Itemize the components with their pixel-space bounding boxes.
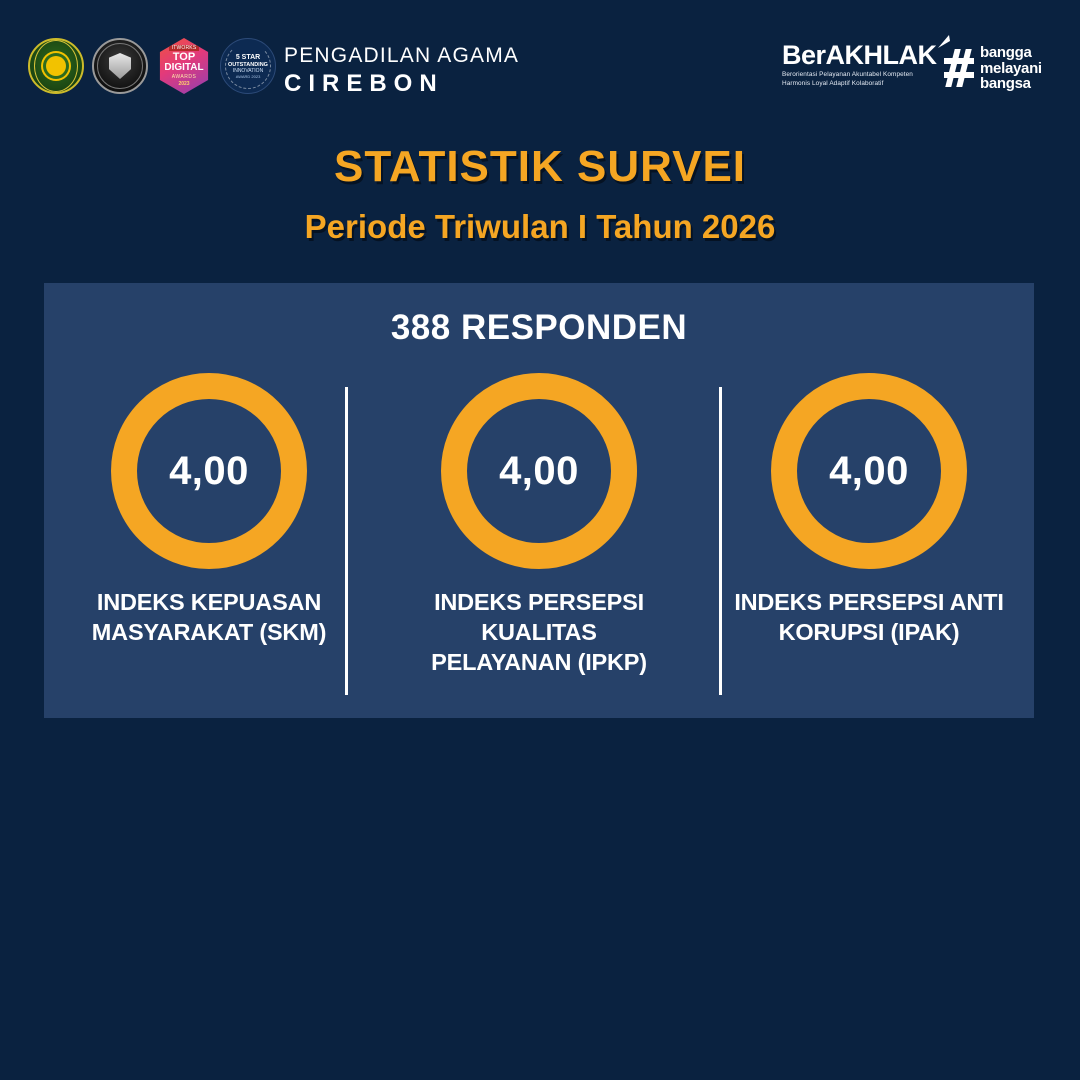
wreath-ring	[225, 43, 271, 89]
hashtag-icon	[944, 49, 974, 87]
metric-divider	[345, 387, 348, 695]
berakhlak-tagline-2: Harmonis Loyal Adaptif Kolaboratif	[782, 80, 937, 88]
badge-line-3: AWARDS	[172, 74, 197, 80]
court-name-line-2: CIREBON	[284, 70, 519, 97]
accreditation-badges: ITWORKS TOP DIGITAL AWARDS 2023 5 STAR O…	[28, 38, 276, 94]
metric-label: INDEKS KEPUASAN MASYARAKAT (SKM)	[92, 587, 326, 647]
seal-ring	[34, 40, 78, 92]
berakhlak-wordmark: BerAKHLAK	[782, 40, 937, 70]
metric-skm: 4,00 INDEKS KEPUASAN MASYARAKAT (SKM)	[44, 373, 374, 703]
metric-divider	[719, 387, 722, 695]
metrics-panel: 388 RESPONDEN 4,00 INDEKS KEPUASAN MASYA…	[44, 283, 1034, 718]
bangga-melayani-bangsa-logo: bangga melayani bangsa	[944, 45, 1042, 92]
badge-line-2: DIGITAL	[164, 63, 203, 73]
metric-value: 4,00	[499, 449, 579, 494]
metric-value: 4,00	[829, 449, 909, 494]
respondent-count: 388 RESPONDEN	[44, 283, 1034, 348]
metric-value: 4,00	[169, 449, 249, 494]
metric-ipak: 4,00 INDEKS PERSEPSI ANTI KORUPSI (IPAK)	[704, 373, 1034, 703]
badge-year: 2023	[178, 81, 189, 87]
donut-gauge-ipak: 4,00	[771, 373, 967, 569]
logo-5-star-innovation-icon: 5 STAR OUTSTANDING INNOVATION AWARD 2023	[220, 38, 276, 94]
court-name: PENGADILAN AGAMA CIREBON	[284, 44, 519, 97]
title-main: STATISTIK SURVEI	[0, 142, 1080, 192]
bangga-wordmark: bangga melayani bangsa	[980, 45, 1042, 92]
donut-gauge-ipkp: 4,00	[441, 373, 637, 569]
donut-gauge-skm: 4,00	[111, 373, 307, 569]
logo-wbk-wbbm-icon	[92, 38, 148, 94]
bangga-line-1: bangga	[980, 45, 1042, 61]
quarter-timeline: Triwulan I SKM 4,00 IPKP 4,00 IPAK 4,00 …	[0, 745, 1080, 1080]
bangga-line-3: bangsa	[980, 76, 1042, 92]
court-name-line-1: PENGADILAN AGAMA	[284, 44, 519, 68]
metric-label: INDEKS PERSEPSI ANTI KORUPSI (IPAK)	[734, 587, 1003, 647]
berakhlak-logo: BerAKHLAK Berorientasi Pelayanan Akuntab…	[782, 40, 937, 88]
metric-list: 4,00 INDEKS KEPUASAN MASYARAKAT (SKM) 4,…	[44, 373, 1034, 703]
logo-top-digital-awards-icon: ITWORKS TOP DIGITAL AWARDS 2023	[156, 38, 212, 94]
bangga-line-2: melayani	[980, 61, 1042, 77]
metric-label: INDEKS PERSEPSI KUALITAS PELAYANAN (IPKP…	[374, 587, 704, 677]
logo-mahkamah-agung-icon	[28, 38, 84, 94]
berakhlak-tagline-1: Berorientasi Pelayanan Akuntabel Kompete…	[782, 71, 937, 79]
metric-ipkp: 4,00 INDEKS PERSEPSI KUALITAS PELAYANAN …	[374, 373, 704, 703]
infographic-page: ITWORKS TOP DIGITAL AWARDS 2023 5 STAR O…	[0, 0, 1080, 1080]
badge-line-1: TOP	[173, 52, 195, 62]
header: ITWORKS TOP DIGITAL AWARDS 2023 5 STAR O…	[0, 0, 1080, 130]
title-subtitle: Periode Triwulan I Tahun 2026	[0, 208, 1080, 246]
page-title: STATISTIK SURVEI Periode Triwulan I Tahu…	[0, 142, 1080, 246]
